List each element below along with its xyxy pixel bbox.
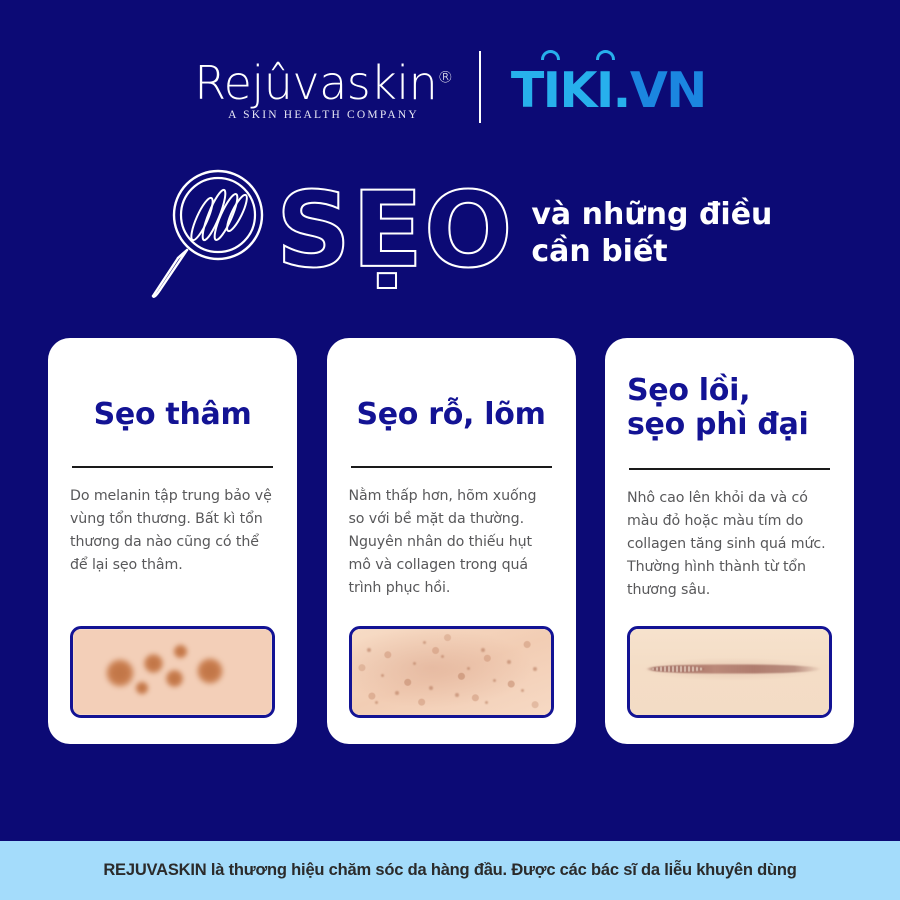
card-photo-pitted-skin xyxy=(349,626,554,718)
skin-keloid-illustration xyxy=(630,629,829,715)
rejuvaskin-wordmark: Rejûvaskin® xyxy=(194,60,453,106)
rejuvaskin-tagline: A SKIN HEALTH COMPANY xyxy=(228,109,419,121)
card-photo-keloid-scar xyxy=(627,626,832,718)
magnifier-scar-icon xyxy=(148,163,266,303)
tiki-name-secondary: VN xyxy=(630,62,706,119)
footer-bar: REJUVASKIN là thương hiệu chăm sóc da hà… xyxy=(0,841,900,900)
headline-subtitle: và những điều cần biết xyxy=(531,197,772,270)
tiki-dot-cap-icon xyxy=(596,50,615,60)
rejuvaskin-name: Rejûvaskin xyxy=(194,56,437,110)
card-seo-loi-phi-dai[interactable]: Sẹo lồi, sẹo phì đại Nhô cao lên khỏi da… xyxy=(605,338,854,744)
headline-row: SẸO và những điều cần biết xyxy=(148,160,788,305)
card-seo-ro-lom[interactable]: Sẹo rỗ, lõm Nằm thấp hơn, hõm xuống so v… xyxy=(327,338,576,744)
headline-subtitle-line1: và những điều xyxy=(531,197,772,234)
tiki-dot-cap-icon xyxy=(541,50,560,60)
card-divider xyxy=(351,466,552,468)
scar-type-cards: Sẹo thâm Do melanin tập trung bảo vệ vùn… xyxy=(48,338,854,744)
skin-spots-illustration xyxy=(73,629,272,715)
infographic-page: Rejûvaskin® A SKIN HEALTH COMPANY TIKI.V… xyxy=(0,0,900,900)
registered-trademark-icon: ® xyxy=(437,67,453,86)
tiki-name-primary: TIKI. xyxy=(511,62,630,119)
brand-bar: Rejûvaskin® A SKIN HEALTH COMPANY TIKI.V… xyxy=(0,46,900,134)
card-description: Nằm thấp hơn, hõm xuống so với bề mặt da… xyxy=(349,485,554,600)
card-title: Sẹo thâm xyxy=(70,398,275,432)
rejuvaskin-logo: Rejûvaskin® A SKIN HEALTH COMPANY xyxy=(194,60,479,121)
card-title: Sẹo lồi, sẹo phì đại xyxy=(627,374,832,442)
card-title-line1: Sẹo lồi, xyxy=(627,374,832,408)
skin-pitted-illustration xyxy=(352,629,551,715)
card-title-line2: sẹo phì đại xyxy=(627,408,832,442)
card-description: Do melanin tập trung bảo vệ vùng tổn thư… xyxy=(70,485,275,577)
tiki-logo: TIKI.VN xyxy=(481,66,706,115)
card-description: Nhô cao lên khỏi da và có màu đỏ hoặc mà… xyxy=(627,487,832,602)
headline-outline-word: SẸO xyxy=(276,178,513,282)
card-divider xyxy=(629,468,830,470)
card-divider xyxy=(72,466,273,468)
footer-text: REJUVASKIN là thương hiệu chăm sóc da hà… xyxy=(103,861,796,880)
card-photo-dark-spots xyxy=(70,626,275,718)
headline-subtitle-line2: cần biết xyxy=(531,234,772,271)
card-seo-tham[interactable]: Sẹo thâm Do melanin tập trung bảo vệ vùn… xyxy=(48,338,297,744)
card-title: Sẹo rỗ, lõm xyxy=(349,398,554,432)
